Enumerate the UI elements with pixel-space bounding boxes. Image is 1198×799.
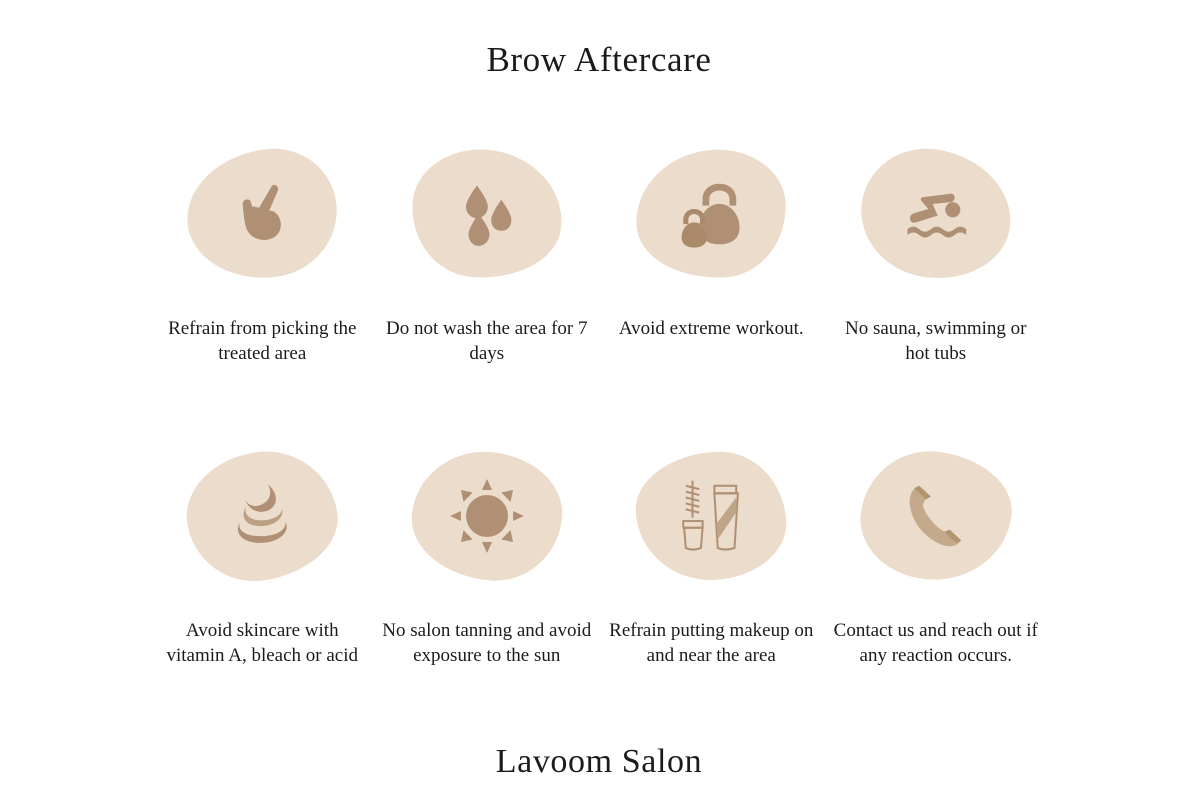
mascara-icon bbox=[669, 474, 753, 558]
tip-caption: No salon tanning and avoid exposure to t… bbox=[382, 618, 592, 668]
tip-card: Do not wash the area for 7 days bbox=[375, 150, 600, 452]
tip-caption: No sauna, swimming or hot tubs bbox=[831, 316, 1041, 366]
icon-badge bbox=[861, 150, 1011, 278]
icon-badge bbox=[187, 452, 337, 580]
icon-badge bbox=[187, 150, 337, 278]
tip-caption: Refrain from picking the treated area bbox=[157, 316, 367, 366]
sun-icon bbox=[445, 474, 529, 558]
tip-caption: Do not wash the area for 7 days bbox=[382, 316, 592, 366]
swimmer-icon bbox=[894, 172, 978, 256]
tip-card: Refrain putting makeup on and near the a… bbox=[599, 452, 824, 754]
tip-card: No sauna, swimming or hot tubs bbox=[824, 150, 1049, 452]
kettlebell-icon bbox=[669, 172, 753, 256]
tip-caption: Avoid skincare with vitamin A, bleach or… bbox=[157, 618, 367, 668]
aftercare-poster: Brow Aftercare Refrain from picking the … bbox=[0, 0, 1198, 799]
tip-card: Refrain from picking the treated area bbox=[150, 150, 375, 452]
brand-footer: Lavoom Salon bbox=[0, 743, 1198, 781]
tip-caption: Avoid extreme workout. bbox=[606, 316, 816, 341]
icon-badge bbox=[412, 452, 562, 580]
tip-caption: Contact us and reach out if any reaction… bbox=[831, 618, 1041, 668]
icon-badge bbox=[636, 452, 786, 580]
tip-card: Avoid extreme workout. bbox=[599, 150, 824, 452]
hand-pinch-icon bbox=[220, 172, 304, 256]
tip-card: Avoid skincare with vitamin A, bleach or… bbox=[150, 452, 375, 754]
icon-badge bbox=[412, 150, 562, 278]
tip-caption: Refrain putting makeup on and near the a… bbox=[606, 618, 816, 668]
icon-badge bbox=[861, 452, 1011, 580]
telephone-icon bbox=[894, 474, 978, 558]
icon-badge bbox=[636, 150, 786, 278]
cream-swirl-icon bbox=[220, 474, 304, 558]
tip-card: No salon tanning and avoid exposure to t… bbox=[375, 452, 600, 754]
page-title: Brow Aftercare bbox=[0, 40, 1198, 80]
tip-card: Contact us and reach out if any reaction… bbox=[824, 452, 1049, 754]
water-droplets-icon bbox=[445, 172, 529, 256]
tips-grid: Refrain from picking the treated area Do… bbox=[150, 150, 1048, 754]
